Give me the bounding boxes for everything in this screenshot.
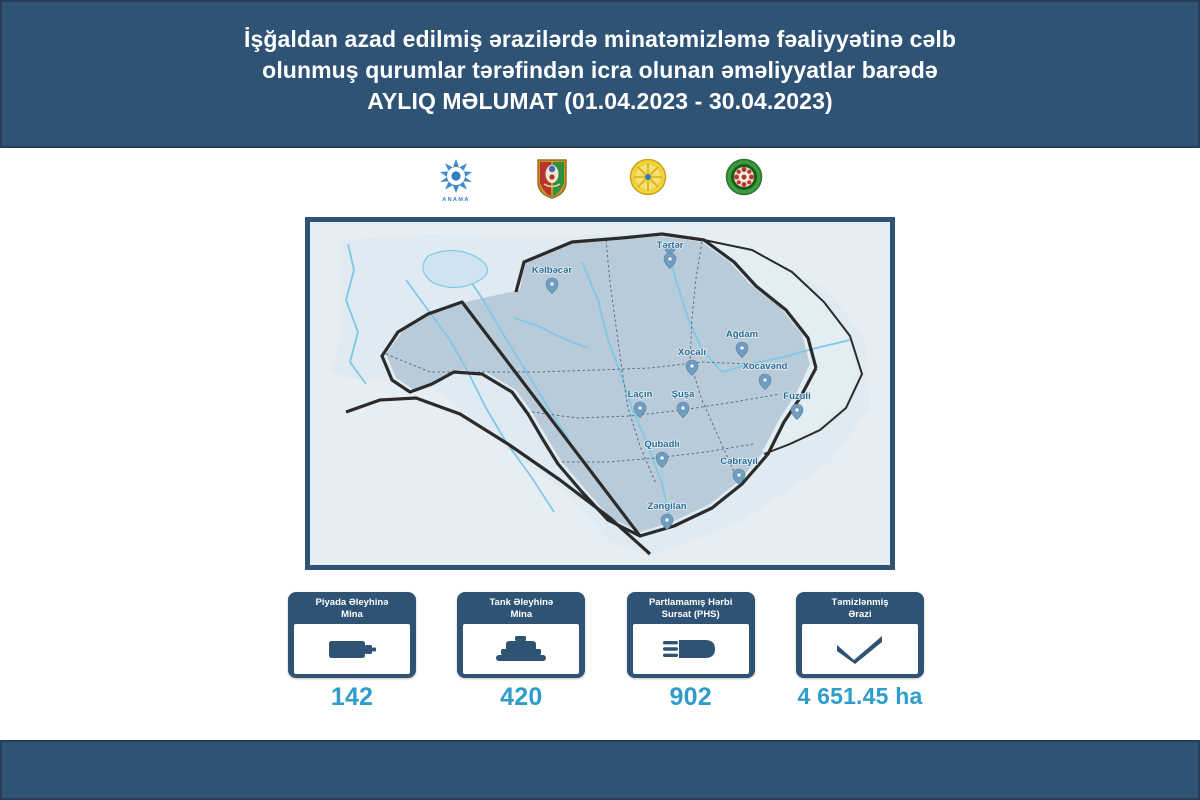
anama-star-icon: [436, 158, 476, 196]
stat-cleared-area: Təmizlənmiş Ərazi 4 651.45 ha: [794, 592, 926, 710]
map-label-qubadli: Qubadlı: [644, 439, 679, 450]
checkmark-icon: [832, 633, 888, 665]
header-bar: İşğaldan azad edilmiş ərazilərdə minatəm…: [0, 0, 1200, 148]
stat-card: Piyada Əleyhinə Mina: [288, 592, 416, 678]
map-label-terter: Tərtər: [657, 240, 684, 251]
stat-card: Təmizlənmiş Ərazi: [796, 592, 924, 678]
stat-value: 4 651.45 ha: [798, 683, 923, 710]
stat-card: Partlamamış Hərbi Sursat (PHS): [627, 592, 755, 678]
anti-tank-mine-icon: [492, 633, 550, 665]
stat-icon-box: [633, 624, 749, 674]
green-emblem-icon: [725, 158, 763, 196]
map-label-cebrayil: Cəbrayıl: [720, 456, 758, 467]
stat-icon-box: [294, 624, 410, 674]
map-label-agdam: Ağdam: [726, 329, 758, 340]
map-frame: Tərtər Kəlbəcər Ağdam Xocalı Xocavənd La…: [305, 217, 895, 570]
shield-emblem-logo: [530, 158, 574, 206]
infographic-page: İşğaldan azad edilmiş ərazilərdə minatəm…: [0, 0, 1200, 800]
unexploded-ordnance-icon: [660, 635, 722, 663]
stat-value: 420: [500, 683, 542, 712]
anama-logo-caption: ANAMA: [442, 197, 469, 203]
map-label-fuzuli: Füzuli: [783, 391, 810, 402]
map-label-kelbecer: Kəlbəcər: [532, 265, 572, 276]
stat-title: Piyada Əleyhinə Mina: [316, 597, 389, 621]
stat-unexploded-ordnance: Partlamamış Hərbi Sursat (PHS) 902: [625, 592, 757, 712]
stat-anti-personnel-mine: Piyada Əleyhinə Mina 142: [286, 592, 418, 712]
liberated-territories-map: Tərtər Kəlbəcər Ağdam Xocalı Xocavənd La…: [310, 222, 890, 565]
logo-row: ANAMA: [0, 158, 1200, 210]
map-label-xocavend: Xocavənd: [743, 361, 788, 372]
stat-icon-box: [802, 624, 918, 674]
stat-anti-tank-mine: Tank Əleyhinə Mina 420: [455, 592, 587, 712]
statistics-row: Piyada Əleyhinə Mina 142 Tank Əleyhinə M…: [286, 592, 926, 712]
map-label-zengilan: Zəngilan: [647, 501, 686, 512]
stat-icon-box: [463, 624, 579, 674]
map-label-lacin: Laçın: [628, 389, 653, 400]
green-circular-emblem-logo: [722, 158, 766, 206]
anti-personnel-mine-icon: [323, 634, 381, 664]
stat-value: 902: [670, 683, 712, 712]
stat-card: Tank Əleyhinə Mina: [457, 592, 585, 678]
stat-title: Partlamamış Hərbi Sursat (PHS): [649, 597, 732, 621]
anama-logo: ANAMA: [434, 158, 478, 206]
gold-circular-emblem-logo: [626, 158, 670, 206]
stat-value: 142: [331, 683, 373, 712]
gold-emblem-icon: [629, 158, 667, 196]
stat-title: Tank Əleyhinə Mina: [489, 597, 553, 621]
map-label-xocali: Xocalı: [678, 347, 706, 358]
map-label-susa: Şuşa: [672, 389, 695, 400]
footer-bar: [0, 740, 1200, 800]
stat-title: Təmizlənmiş Ərazi: [831, 597, 888, 621]
shield-emblem-icon: [535, 158, 569, 200]
page-title: İşğaldan azad edilmiş ərazilərdə minatəm…: [2, 24, 1198, 117]
